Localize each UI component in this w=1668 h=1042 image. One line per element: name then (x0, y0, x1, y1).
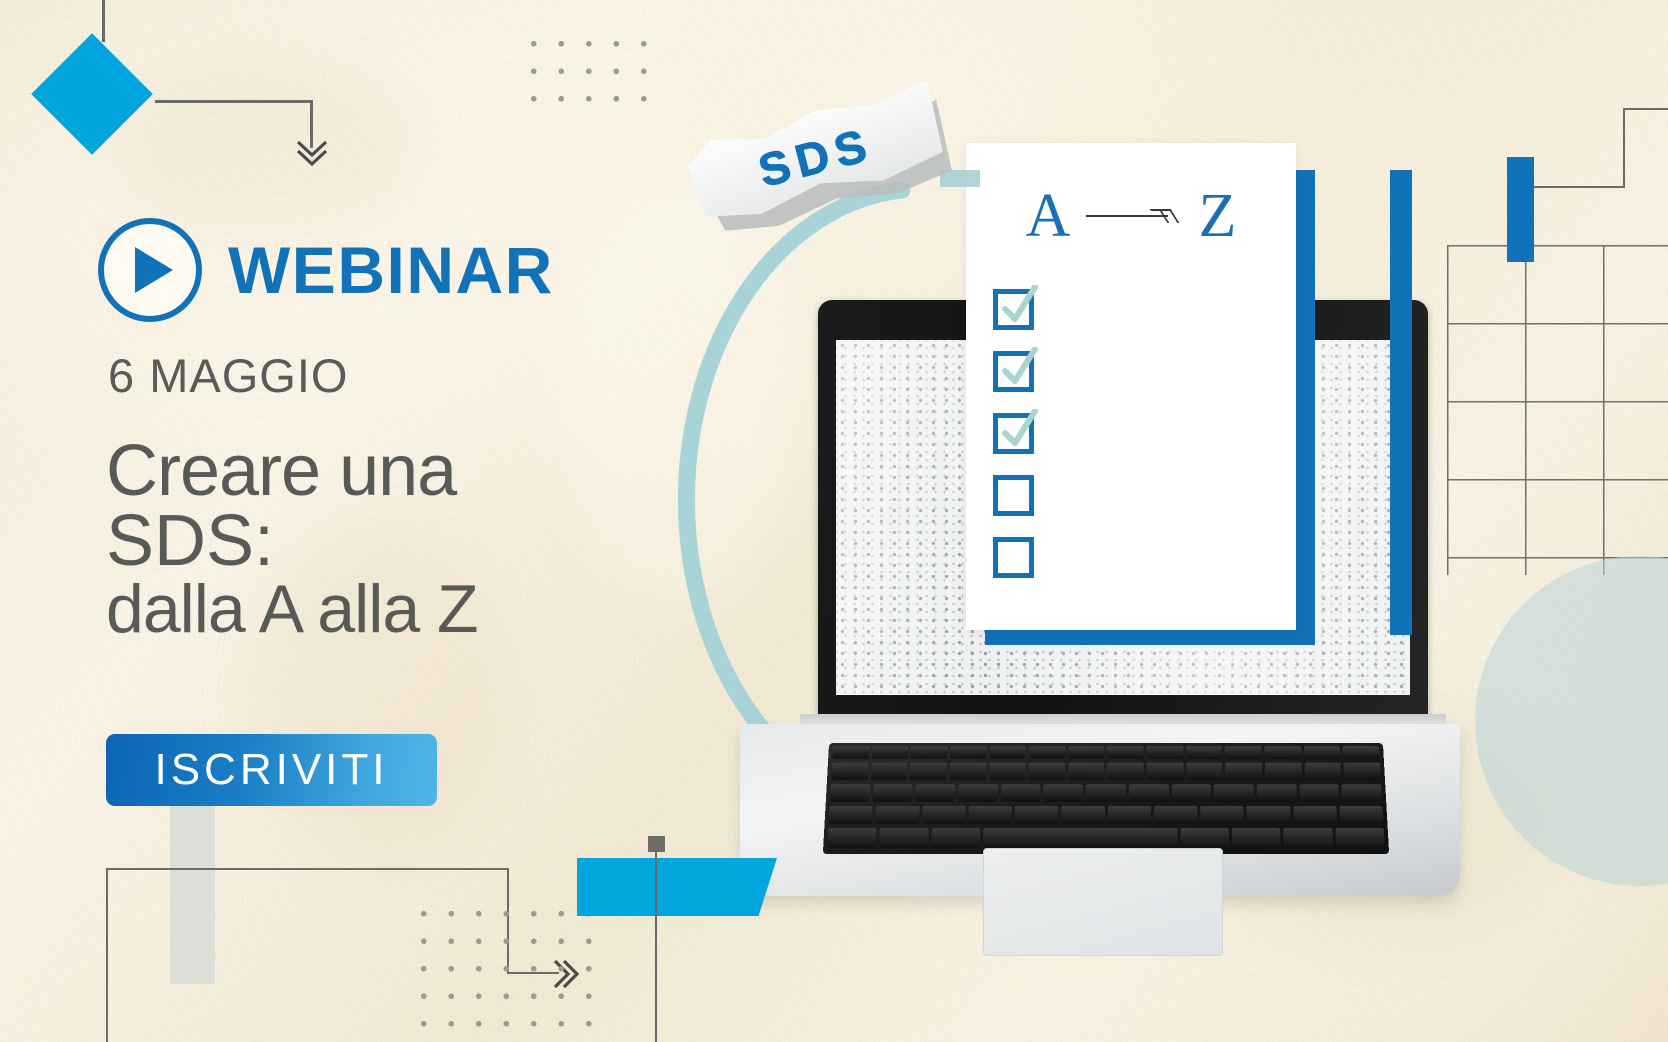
key (829, 806, 873, 824)
key (1154, 806, 1198, 824)
arrow-right-icon (1086, 208, 1182, 224)
letter-z: Z (1198, 185, 1236, 247)
key (968, 806, 1012, 824)
checkbox-unchecked[interactable] (993, 475, 1034, 516)
dot-grid-pattern (516, 26, 668, 120)
key (1214, 784, 1254, 802)
key (1225, 746, 1262, 759)
key (1186, 763, 1223, 781)
double-chevron-down-icon (293, 138, 331, 170)
checkmark-icon (1001, 409, 1038, 451)
square-grid-clip (1447, 245, 1668, 575)
key (1304, 746, 1341, 759)
banner-canvas: A Z (0, 0, 1668, 1042)
dot-grid-pattern (406, 896, 596, 1042)
play-circle-icon[interactable] (98, 218, 202, 322)
checklist (993, 289, 1283, 599)
key (1086, 784, 1126, 802)
key (1304, 763, 1341, 781)
key (873, 784, 913, 802)
register-button[interactable]: ISCRIVITI (106, 734, 437, 806)
keyboard-row (825, 806, 1388, 824)
key (1343, 746, 1380, 759)
checklist-item[interactable] (993, 289, 1283, 351)
keyboard-row (827, 763, 1385, 781)
key (831, 763, 868, 781)
key (1200, 806, 1244, 824)
key (1028, 763, 1065, 781)
key (879, 828, 928, 848)
key (872, 746, 909, 759)
key (1293, 806, 1337, 824)
key (830, 784, 871, 802)
key (1043, 784, 1083, 802)
step-line-vertical (1623, 108, 1625, 186)
key (983, 828, 1178, 848)
key (922, 806, 966, 824)
key (1339, 806, 1383, 824)
laptop-keyboard (823, 743, 1389, 854)
item-text-lines (1049, 351, 1283, 360)
gray-vertical-bar (170, 806, 215, 984)
checkbox-checked[interactable] (993, 413, 1034, 454)
key (1068, 746, 1104, 759)
key (931, 828, 980, 848)
checklist-item[interactable] (993, 537, 1283, 599)
key (1001, 784, 1041, 802)
key (1108, 806, 1151, 824)
key (1232, 828, 1281, 848)
blue-vertical-bar (1507, 157, 1534, 262)
flow-line-vertical (102, 0, 105, 42)
key (1264, 746, 1301, 759)
key (989, 763, 1026, 781)
key (950, 746, 987, 759)
checklist-item[interactable] (993, 351, 1283, 413)
key (1283, 828, 1332, 848)
key (1335, 828, 1385, 848)
checklist-document: A Z (966, 143, 1296, 630)
key (1226, 763, 1263, 781)
checkbox-checked[interactable] (993, 351, 1034, 392)
keyboard-row (823, 828, 1389, 848)
key (1068, 763, 1105, 781)
item-text-lines (1049, 475, 1283, 484)
key (1246, 806, 1290, 824)
checklist-item[interactable] (993, 475, 1283, 537)
cyan-rectangle (577, 858, 759, 916)
key (989, 746, 1026, 759)
key (1342, 784, 1383, 802)
keyboard-row (826, 784, 1386, 802)
key (1061, 806, 1104, 824)
key (1015, 806, 1059, 824)
key (1171, 784, 1211, 802)
letter-a: A (1026, 185, 1071, 247)
item-text-lines (1049, 537, 1283, 546)
key (1186, 746, 1223, 759)
key (827, 828, 877, 848)
key (1180, 828, 1229, 848)
checklist-item[interactable] (993, 413, 1283, 475)
key (870, 763, 907, 781)
key (958, 784, 998, 802)
key (1129, 784, 1169, 802)
page-title: Creare una SDS: dalla A alla Z (106, 437, 726, 643)
title-line-1: Creare una (106, 437, 726, 507)
key (832, 746, 869, 759)
paper-blot (120, 60, 420, 240)
key (915, 784, 955, 802)
key (1344, 763, 1381, 781)
step-line-horizontal (1623, 108, 1668, 110)
flow-line-horizontal (155, 100, 313, 103)
checkmark-icon (1001, 347, 1038, 389)
key (1147, 763, 1184, 781)
key (1147, 746, 1183, 759)
gray-square-node (648, 836, 665, 852)
key (911, 746, 948, 759)
step-line-horizontal (1533, 186, 1625, 188)
title-line-2: SDS: (106, 507, 726, 577)
a-to-z-heading: A Z (966, 185, 1296, 247)
laptop-trackpad (983, 848, 1223, 956)
key (910, 763, 947, 781)
webinar-eyebrow: WEBINAR (98, 218, 554, 322)
checkmark-icon (1001, 285, 1038, 327)
item-text-lines (1049, 289, 1283, 298)
square-grid-pattern (1447, 245, 1668, 575)
keyboard-row (828, 746, 1384, 759)
webinar-date: 6 MAGGIO (108, 348, 348, 403)
checkbox-checked[interactable] (993, 289, 1034, 330)
frame-line-vertical (106, 868, 108, 1042)
key (1029, 746, 1065, 759)
key (1299, 784, 1339, 802)
key (1265, 763, 1302, 781)
item-text-lines (1049, 413, 1283, 422)
play-triangle (135, 247, 173, 293)
key (1256, 784, 1296, 802)
blue-vertical-bar (1390, 170, 1412, 635)
key (875, 806, 919, 824)
key (949, 763, 986, 781)
webinar-label: WEBINAR (228, 237, 554, 303)
checkbox-unchecked[interactable] (993, 537, 1034, 578)
key (1107, 746, 1143, 759)
key (1107, 763, 1144, 781)
node-line-vertical (655, 852, 657, 1042)
title-line-3: dalla A alla Z (106, 577, 726, 643)
frame-line-horizontal (106, 868, 509, 870)
